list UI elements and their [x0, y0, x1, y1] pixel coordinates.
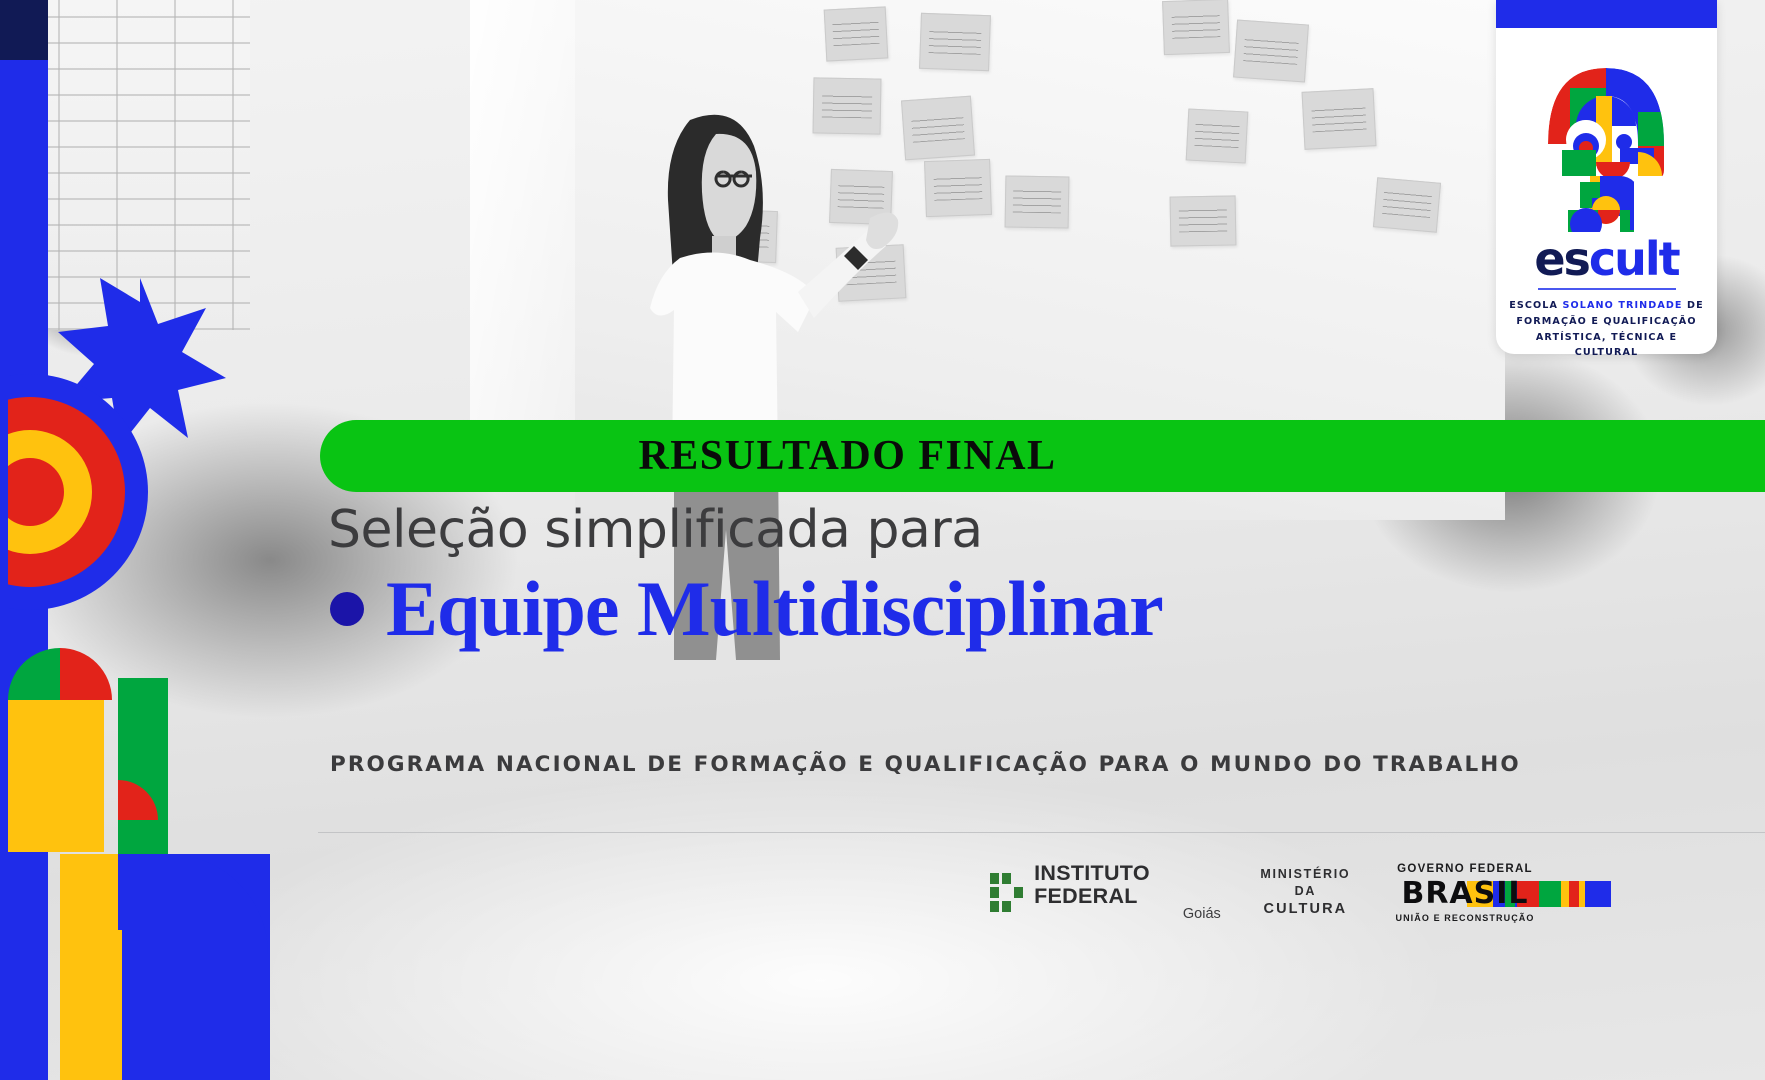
sticky-note [919, 13, 991, 71]
instituto-federal-grid-icon [990, 873, 1023, 913]
sticky-note [1373, 177, 1441, 232]
escult-wordmark-es: es [1534, 232, 1589, 286]
instituto-federal-logo: INSTITUTO FEDERAL Goiás [990, 862, 1221, 922]
ministerio-cultura-logo: MINISTÉRIO DA CULTURA [1257, 866, 1354, 919]
sticky-note [901, 96, 975, 161]
brasil-text: BRASIL [1390, 877, 1540, 911]
escult-logo-card: escult ESCOLA SOLANO TRINDADE DE FORMAÇÃ… [1496, 0, 1717, 354]
footer-logos: INSTITUTO FEDERAL Goiás MINISTÉRIO DA CU… [990, 845, 1540, 940]
governo-bottom-label: UNIÃO E RECONSTRUÇÃO [1390, 913, 1540, 923]
sticky-note [1233, 20, 1309, 83]
sticky-note [824, 6, 889, 61]
sticky-note [924, 159, 992, 217]
tagline-pre: ESCOLA [1509, 300, 1562, 311]
headline-row: Equipe Multidisciplinar [330, 570, 1163, 648]
escult-tagline: ESCOLA SOLANO TRINDADE DE FORMAÇÃO E QUA… [1502, 298, 1711, 361]
banner-label: RESULTADO FINAL [638, 432, 1446, 480]
escult-wordmark-cult: cult [1589, 232, 1679, 286]
escult-tagline-line-1: ESCOLA SOLANO TRINDADE DE [1502, 298, 1711, 314]
resultado-final-banner: RESULTADO FINAL [320, 420, 1765, 492]
tagline-post: DE [1683, 300, 1704, 311]
sticky-note [1302, 88, 1377, 150]
instituto-federal-campus: Goiás [1034, 907, 1221, 922]
governo-federal-logo: GOVERNO FEDERAL BRASIL UNIÃO E RECONSTRU… [1390, 863, 1540, 923]
sticky-note [1005, 175, 1070, 228]
headline-kicker: Seleção simplificada para [328, 500, 983, 560]
instituto-federal-name: INSTITUTO FEDERAL [1034, 862, 1221, 907]
tagline-highlight: SOLANO TRINDADE [1563, 300, 1683, 311]
governo-top-label: GOVERNO FEDERAL [1390, 863, 1540, 875]
escult-tagline-line-3: ARTÍSTICA, TÉCNICA E CULTURAL [1502, 330, 1711, 362]
sticky-note [1186, 108, 1249, 163]
brasil-wordmark: BRASIL [1390, 877, 1540, 911]
bullet-dot-icon [330, 592, 364, 626]
ministerio-line-2: CULTURA [1257, 900, 1354, 920]
escult-wordmark: escult [1496, 236, 1717, 282]
page-title: Equipe Multidisciplinar [386, 570, 1163, 648]
escult-tagline-line-2: FORMAÇÃO E QUALIFICAÇÃO [1502, 314, 1711, 330]
program-subtitle: PROGRAMA NACIONAL DE FORMAÇÃO E QUALIFIC… [330, 752, 1521, 777]
sticky-note [1162, 0, 1230, 55]
footer-divider [318, 832, 1765, 833]
escult-card-top-bar [1496, 0, 1717, 28]
sticky-note [1170, 195, 1237, 246]
escult-face-mark [1534, 52, 1679, 232]
decorative-graphic-band [0, 0, 282, 1080]
ministerio-line-1: MINISTÉRIO DA [1257, 866, 1354, 900]
escult-divider [1538, 288, 1676, 290]
